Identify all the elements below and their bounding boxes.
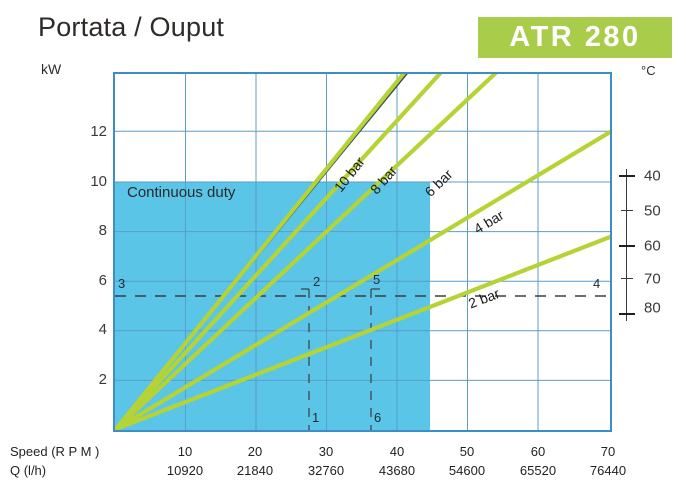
y-tick-12: 12	[67, 123, 107, 140]
x-axis-row-label-speed: Speed (R P M )	[10, 444, 99, 459]
y2-axis-unit-label: °C	[641, 63, 656, 78]
x-tick-q-65520: 65520	[520, 463, 556, 478]
continuous-duty-label: Continuous duty	[127, 184, 235, 201]
model-badge-label: ATR 280	[509, 23, 640, 52]
x-tick-40: 40	[390, 444, 404, 459]
chart-canvas: Continuous duty 10 bar 8 bar 6 bar 4 bar…	[115, 74, 610, 430]
x-tick-30: 30	[319, 444, 333, 459]
chart-page: Portata / Ouput ATR 280 kW °C 12 10 8 6 …	[0, 0, 686, 500]
y2-tick-mark-80	[619, 313, 635, 315]
x-tick-60: 60	[531, 444, 545, 459]
y-tick-2: 2	[67, 371, 107, 388]
y-tick-6: 6	[67, 272, 107, 289]
continuous-duty-region	[115, 182, 430, 430]
point-marker-6: 6	[374, 410, 381, 425]
y2-axis-scale: 40 50 60 70 80	[626, 165, 686, 325]
x-tick-q-32760: 32760	[308, 463, 344, 478]
chart-plot-area: Continuous duty 10 bar 8 bar 6 bar 4 bar…	[113, 72, 612, 432]
y2-tick-mark-60	[619, 245, 635, 247]
model-badge: ATR 280	[478, 17, 672, 58]
point-marker-1: 1	[312, 410, 319, 425]
x-tick-q-10920: 10920	[167, 463, 203, 478]
x-axis-row-label-flow: Q (l/h)	[10, 463, 46, 478]
chart-svg	[115, 74, 610, 430]
x-tick-q-76440: 76440	[590, 463, 626, 478]
page-title: Portata / Ouput	[38, 12, 224, 43]
x-tick-q-43680: 43680	[379, 463, 415, 478]
y2-tick-mark-40	[619, 175, 635, 177]
point-marker-4: 4	[593, 276, 600, 291]
y2-tick-80: 80	[644, 300, 661, 317]
x-tick-20: 20	[248, 444, 262, 459]
point-marker-3: 3	[118, 276, 125, 291]
x-tick-50: 50	[460, 444, 474, 459]
y-tick-8: 8	[67, 222, 107, 239]
y-tick-10: 10	[67, 173, 107, 190]
y-tick-4: 4	[67, 321, 107, 338]
x-axis-table: Speed (R P M ) Q (l/h) 10 20 30 40 50 60…	[10, 444, 676, 486]
y2-tick-mark-70	[621, 278, 633, 279]
y2-tick-70: 70	[644, 271, 661, 288]
point-marker-5: 5	[373, 272, 380, 287]
x-tick-10: 10	[178, 444, 192, 459]
x-tick-q-21840: 21840	[237, 463, 273, 478]
y2-tick-mark-50	[621, 210, 633, 211]
point-marker-2: 2	[313, 274, 320, 289]
y2-tick-40: 40	[644, 168, 661, 185]
y-axis-tick-labels: 12 10 8 6 4 2	[55, 72, 107, 432]
x-tick-q-54600: 54600	[449, 463, 485, 478]
x-tick-70: 70	[601, 444, 615, 459]
y2-tick-60: 60	[644, 238, 661, 255]
y2-tick-50: 50	[644, 203, 661, 220]
